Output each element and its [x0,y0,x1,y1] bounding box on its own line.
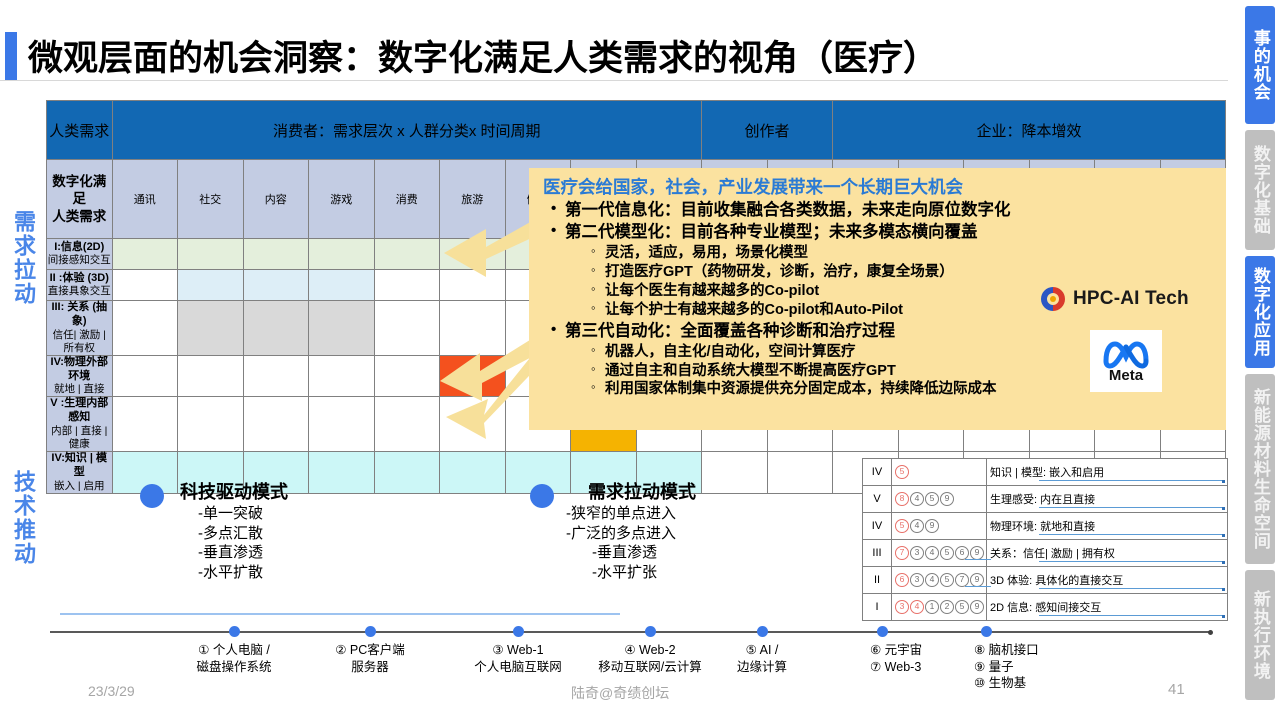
hpc-ai-tech-logo: HPC-AI Tech [1040,286,1189,312]
legend-numbers: 8459 [892,486,987,513]
legend-circled-number: 5 [940,573,954,587]
hpc-logo-text: HPC-AI Tech [1073,288,1189,310]
matrix-cell[interactable] [243,355,309,397]
legend-circled-number: 6 [955,546,969,560]
legend-roman: III [863,540,892,567]
sidebar-item-label: 新能源材料生命空间 [1251,388,1269,550]
footer-attribution: 陆奇@奇绩创坛 [571,683,669,703]
legend-underline [1039,561,1225,562]
timeline-label-line: 服务器 [335,659,405,676]
legend-circled-number: 5 [895,519,909,533]
matrix-cell[interactable] [178,270,244,301]
sidebar-item-label: 新执行环境 [1251,590,1269,680]
legend-numbers: 734569 [892,540,987,567]
matrix-cell[interactable] [309,270,375,301]
matrix-cell[interactable] [374,270,440,301]
timeline-axis [50,631,1210,633]
timeline-dot[interactable] [229,626,240,637]
matrix-top-header: 企业：降本增效 [833,101,1226,160]
legend-circled-number: 9 [940,492,954,506]
bullet-dot-icon [140,484,164,508]
timeline-label: ③ Web-1个人电脑互联网 [474,642,562,675]
legend-row: IV5知识 | 模型: 嵌入和启用 [863,459,1228,486]
legend-stub-line [965,586,991,587]
legend-circled-number: 3 [910,546,924,560]
legend-stub-line [965,559,991,560]
legend-circled-number: 5 [955,600,969,614]
mode-title: 科技驱动模式 [180,478,288,504]
callout-bullet-l2: 打造医疗GPT（药物研发，诊断，治疗，康复全场景） [591,263,1226,282]
timeline-label: ⑧ 脑机接口⑨ 量子⑩ 生物基 [974,642,1039,692]
matrix-cell[interactable] [112,270,178,301]
hpc-mark-icon [1040,286,1066,312]
legend-row: V8459生理感受: 内在且直接 [863,486,1228,513]
legend-circled-number: 7 [895,546,909,560]
matrix-cell[interactable] [374,452,440,494]
sidebar-item-4[interactable]: 新执行环境 [1245,570,1275,700]
timeline-label-line: ⑧ 脑机接口 [974,642,1039,659]
legend-description: 物理环境: 就地和直接 [987,513,1228,540]
legend-underline [1039,534,1225,535]
legend-circled-number: 4 [910,600,924,614]
timeline-dot[interactable] [981,626,992,637]
legend-numbers: 5 [892,459,987,486]
legend-roman: IV [863,513,892,540]
timeline-label: ⑤ AI /边缘计算 [737,642,787,675]
timeline-label-line: ① 个人电脑 / [196,642,271,659]
mode-lines: -狭窄的单点进入-广泛的多点进入-垂直渗透-水平扩张 [566,504,696,582]
legend-row: III734569关系：信任| 激励 | 拥有权 [863,540,1228,567]
axis-label-tech-push: 技术推动 [10,470,36,566]
legend-circled-number: 4 [910,519,924,533]
legend-circled-number: 3 [910,573,924,587]
mode-line: -垂直渗透 [592,543,696,563]
matrix-cell[interactable] [309,452,375,494]
matrix-cell[interactable] [243,239,309,270]
matrix-cell[interactable] [243,270,309,301]
matrix-cell[interactable] [440,270,506,301]
legend-underline [1039,507,1225,508]
matrix-cell[interactable] [440,452,506,494]
matrix-cell[interactable] [309,355,375,397]
legend-underline [1039,480,1225,481]
timeline-label-line: 边缘计算 [737,659,787,676]
mode-line: -多点汇散 [198,524,288,544]
matrix-cell[interactable] [112,355,178,397]
mode-line: -水平扩散 [198,563,288,583]
legend-description: 3D 体验: 具体化的直接交互 [987,567,1228,594]
legend-circled-number: 5 [925,492,939,506]
timeline-label: ④ Web-2移动互联网/云计算 [598,642,701,675]
legend-roman: V [863,486,892,513]
matrix-cell[interactable] [309,397,375,452]
mode-line: -广泛的多点进入 [566,524,696,544]
legend-circled-number: 5 [895,465,909,479]
legend-circled-number: 3 [895,600,909,614]
legend-circled-number: 1 [925,600,939,614]
legend-description: 生理感受: 内在且直接 [987,486,1228,513]
section-sidebar: 事的机会数字化基础数字化应用新能源材料生命空间新执行环境 [1240,6,1280,718]
matrix-cell[interactable] [374,301,440,356]
timeline-dot[interactable] [513,626,524,637]
legend-circled-number: 9 [925,519,939,533]
matrix-cell[interactable] [374,355,440,397]
legend-circled-number: 5 [940,546,954,560]
matrix-cell[interactable] [440,397,506,452]
matrix-cell[interactable] [440,301,506,356]
timeline-label-line: ⑤ AI / [737,642,787,659]
mode-line: -单一突破 [198,504,288,524]
legend-circled-number: 7 [955,573,969,587]
callout-bullet-l1: 第一代信息化：目前收集融合各类数据，未来走向原位数字化 [551,200,1226,221]
matrix-cell[interactable] [178,355,244,397]
matrix-column-header: 内容 [243,160,309,239]
title-bar: 微观层面的机会洞察：数字化满足人类需求的视角（医疗） [0,14,1230,68]
legend-underline [1039,588,1225,589]
timeline-dot[interactable] [365,626,376,637]
timeline-label: ② PC客户端服务器 [335,642,405,675]
timeline-label: ① 个人电脑 /磁盘操作系统 [196,642,271,675]
matrix-cell[interactable] [243,397,309,452]
matrix-column-header: 消费 [374,160,440,239]
legend-circled-number: 4 [925,573,939,587]
timeline-label-line: ⑦ Web-3 [870,659,922,676]
sidebar-item-label: 数字化基础 [1251,145,1269,235]
legend-description: 关系：信任| 激励 | 拥有权 [987,540,1228,567]
matrix-row-label: IV:知识 | 模型嵌入 | 启用 [47,452,113,494]
sidebar-item-2[interactable]: 数字化应用 [1245,256,1275,368]
matrix-cell[interactable] [440,239,506,270]
matrix-cell[interactable] [309,301,375,356]
sidebar-item-label: 数字化应用 [1251,267,1269,357]
legend-circled-number: 8 [895,492,909,506]
title-accent-bar [5,32,17,80]
sidebar-item-label: 事的机会 [1251,29,1269,101]
matrix-top-header: 消费者：需求层次 x 人群分类x 时间周期 [112,101,702,160]
meta-logo: Meta [1090,330,1162,392]
timeline-dot[interactable] [877,626,888,637]
matrix-cell[interactable] [309,239,375,270]
legend-roman: IV [863,459,892,486]
callout-heading: 医疗会给国家，社会，产业发展带来一个长期巨大机会 [543,174,1226,199]
meta-infinity-icon [1101,339,1151,369]
callout-bullet-l1: 第二代模型化：目前各种专业模型；未来多模态横向覆盖 [551,222,1226,243]
legend-circled-number: 9 [970,600,984,614]
legend-roman: I [863,594,892,621]
matrix-cell[interactable] [374,397,440,452]
timeline-blue-accent [60,613,620,615]
callout-bullet-l2: 灵活，适应，易用，场景化模型 [591,244,1226,263]
mode-title: 需求拉动模式 [588,478,696,504]
matrix-cell[interactable] [112,397,178,452]
matrix-row-label: IV:物理外部环境就地 | 直接 [47,355,113,397]
sidebar-item-3[interactable]: 新能源材料生命空间 [1245,374,1275,564]
matrix-cell[interactable] [178,397,244,452]
axis-label-demand-pull: 需求拉动 [10,210,36,306]
timeline-label-line: ④ Web-2 [598,642,701,659]
timeline-label-line: ⑩ 生物基 [974,675,1039,692]
mode-lines: -单一突破-多点汇散-垂直渗透-水平扩散 [198,504,288,582]
legend-numbers: 549 [892,513,987,540]
matrix-row-label: I:信息(2D)间接感知交互 [47,239,113,270]
legend-circled-number: 6 [895,573,909,587]
footer-date: 23/3/29 [88,683,135,699]
needs-legend-table: IV5知识 | 模型: 嵌入和启用V8459生理感受: 内在且直接IV549物理… [862,458,1228,621]
legend-circled-number: 2 [940,600,954,614]
legend-row: II6345793D 体验: 具体化的直接交互 [863,567,1228,594]
meta-logo-text: Meta [1109,367,1143,384]
timeline-label-line: ⑥ 元宇宙 [870,642,922,659]
matrix-cell[interactable] [178,239,244,270]
mode-line: -水平扩张 [592,563,696,583]
matrix-column-header: 游戏 [309,160,375,239]
page-title: 微观层面的机会洞察：数字化满足人类需求的视角（医疗） [28,30,938,81]
matrix-top-header: 创作者 [702,101,833,160]
matrix-cell[interactable] [767,452,833,494]
matrix-row-label: III: 关系 (抽象)信任| 激励 | 所有权 [47,301,113,356]
timeline-label-line: ③ Web-1 [474,642,562,659]
title-divider [0,80,1228,81]
matrix-row-label: II :体验 (3D)直接具象交互 [47,270,113,301]
bullet-dot-icon [530,484,554,508]
legend-numbers: 634579 [892,567,987,594]
matrix-corner-label: 数字化满足人类需求 [47,160,113,239]
timeline-label-line: 磁盘操作系统 [196,659,271,676]
timeline-dot[interactable] [645,626,656,637]
legend-circled-number: 4 [925,546,939,560]
matrix-cell[interactable] [112,301,178,356]
matrix-column-header: 社交 [178,160,244,239]
legend-description: 知识 | 模型: 嵌入和启用 [987,459,1228,486]
matrix-cell[interactable] [702,452,768,494]
legend-circled-number: 4 [910,492,924,506]
matrix-row-label: V :生理内部感知内部 | 直接 | 健康 [47,397,113,452]
timeline-label: ⑥ 元宇宙⑦ Web-3 [870,642,922,675]
matrix-column-header: 旅游 [440,160,506,239]
sidebar-item-0[interactable]: 事的机会 [1245,6,1275,124]
legend-circled-number: 9 [970,546,984,560]
timeline-label-line: ② PC客户端 [335,642,405,659]
mode-tech-driven: 科技驱动模式 -单一突破-多点汇散-垂直渗透-水平扩散 [140,478,288,582]
matrix-cell[interactable] [440,355,506,397]
legend-roman: II [863,567,892,594]
mode-demand-pull: 需求拉动模式 -狭窄的单点进入-广泛的多点进入-垂直渗透-水平扩张 [530,478,696,582]
matrix-top-header: 人类需求 [47,101,113,160]
matrix-cell[interactable] [243,301,309,356]
legend-description: 2D 信息: 感知间接交互 [987,594,1228,621]
matrix-cell[interactable] [374,239,440,270]
legend-circled-number: 9 [970,573,984,587]
timeline-label-line: 个人电脑互联网 [474,659,562,676]
footer-page-number: 41 [1168,681,1185,698]
legend-row: I3412592D 信息: 感知间接交互 [863,594,1228,621]
timeline-label-line: 移动互联网/云计算 [598,659,701,676]
sidebar-item-1[interactable]: 数字化基础 [1245,130,1275,250]
legend-row: IV549物理环境: 就地和直接 [863,513,1228,540]
mode-line: -狭窄的单点进入 [566,504,696,524]
legend-underline [1039,615,1225,616]
matrix-cell[interactable] [112,239,178,270]
mode-line: -垂直渗透 [198,543,288,563]
legend-numbers: 341259 [892,594,987,621]
matrix-cell[interactable] [178,301,244,356]
timeline-dot[interactable] [757,626,768,637]
matrix-column-header: 通讯 [112,160,178,239]
timeline-label-line: ⑨ 量子 [974,659,1039,676]
